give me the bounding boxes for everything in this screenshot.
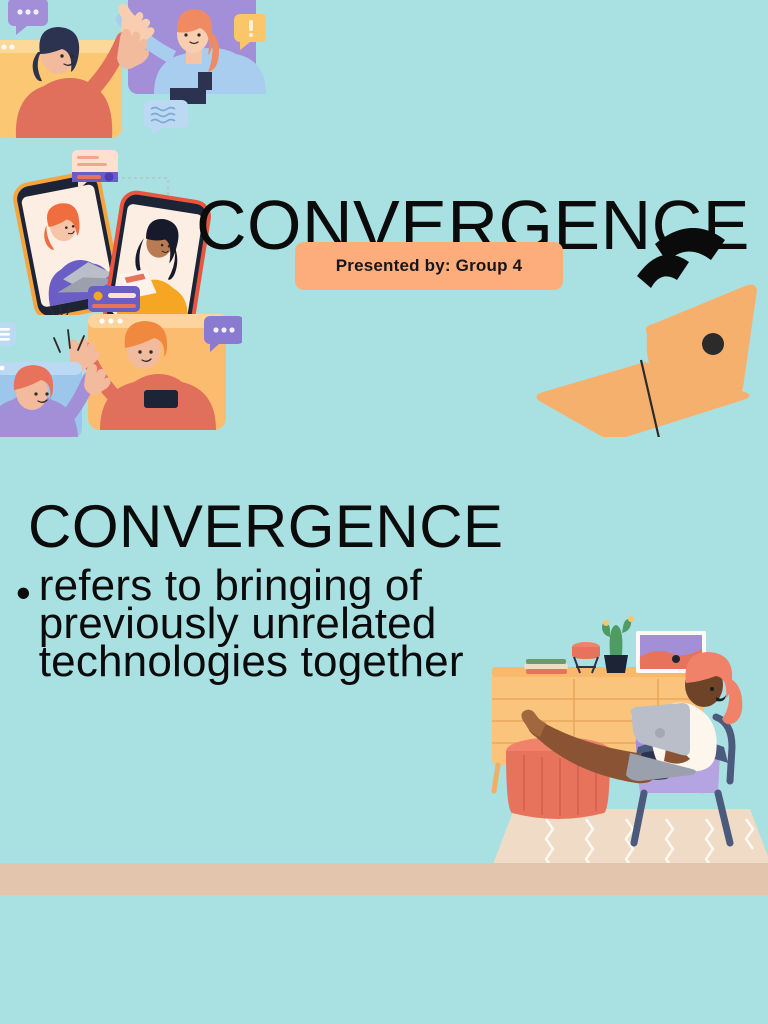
illustration-high-five-video-call [0,0,266,148]
bullet-marker-icon: • [16,567,31,619]
slide-content: CONVERGENCE • refers to bringing of prev… [0,437,768,1024]
illustration-laptop-with-wifi [495,228,768,437]
illustration-men-high-five-video-call [0,300,242,437]
illustration-two-smartphones-video-chat [4,150,214,315]
section-title: CONVERGENCE [28,497,504,557]
slide-title: CONVERGENCE Presented by: Group 4 [0,0,768,437]
floor-band [0,863,768,895]
bullet-body-text: refers to bringing of previously unrelat… [39,567,486,680]
wifi-signal-icon [637,228,725,288]
illustration-woman-relaxing-with-laptop [480,597,768,867]
slide-deck: CONVERGENCE Presented by: Group 4 [0,0,768,1024]
bullet-list-item: • refers to bringing of previously unrel… [16,567,486,680]
